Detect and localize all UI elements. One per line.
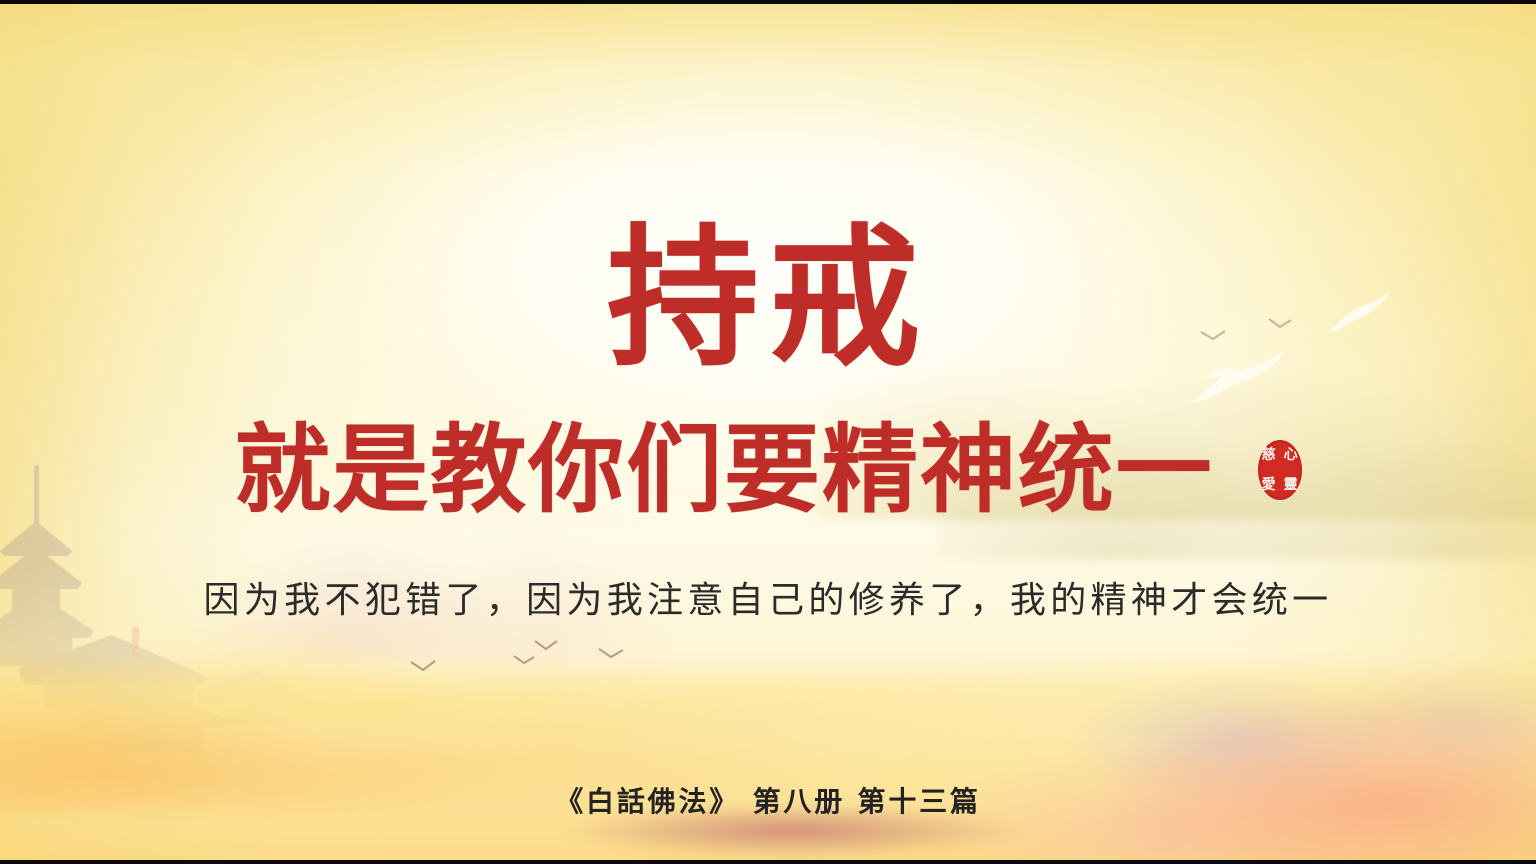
bottom-edge-bar (0, 860, 1536, 864)
seal-stamp: 慈 心 愛 靈 (1258, 440, 1302, 500)
page-subtitle: 就是教你们要精神统一 (234, 418, 1213, 522)
seal-char-3: 愛 (1262, 478, 1276, 492)
top-edge-bar (0, 0, 1536, 4)
seal-char-2: 心 (1284, 448, 1298, 462)
seal-char-4: 靈 (1284, 478, 1298, 492)
subtitle-row: 就是教你们要精神统一 慈 心 愛 靈 (0, 418, 1536, 522)
seal-char-1: 慈 (1262, 448, 1276, 462)
source-citation: 《白話佛法》 第八册 第十三篇 (0, 780, 1536, 820)
page-title: 持戒 (0, 222, 1536, 374)
poster-canvas: 持戒 就是教你们要精神统一 慈 心 愛 靈 因为我不犯错了，因为我注意自己的修养… (0, 0, 1536, 864)
body-quote-text: 因为我不犯错了，因为我注意自己的修养了，我的精神才会统一 (0, 578, 1536, 625)
poster-content: 持戒 就是教你们要精神统一 慈 心 愛 靈 因为我不犯错了，因为我注意自己的修养… (0, 0, 1536, 864)
